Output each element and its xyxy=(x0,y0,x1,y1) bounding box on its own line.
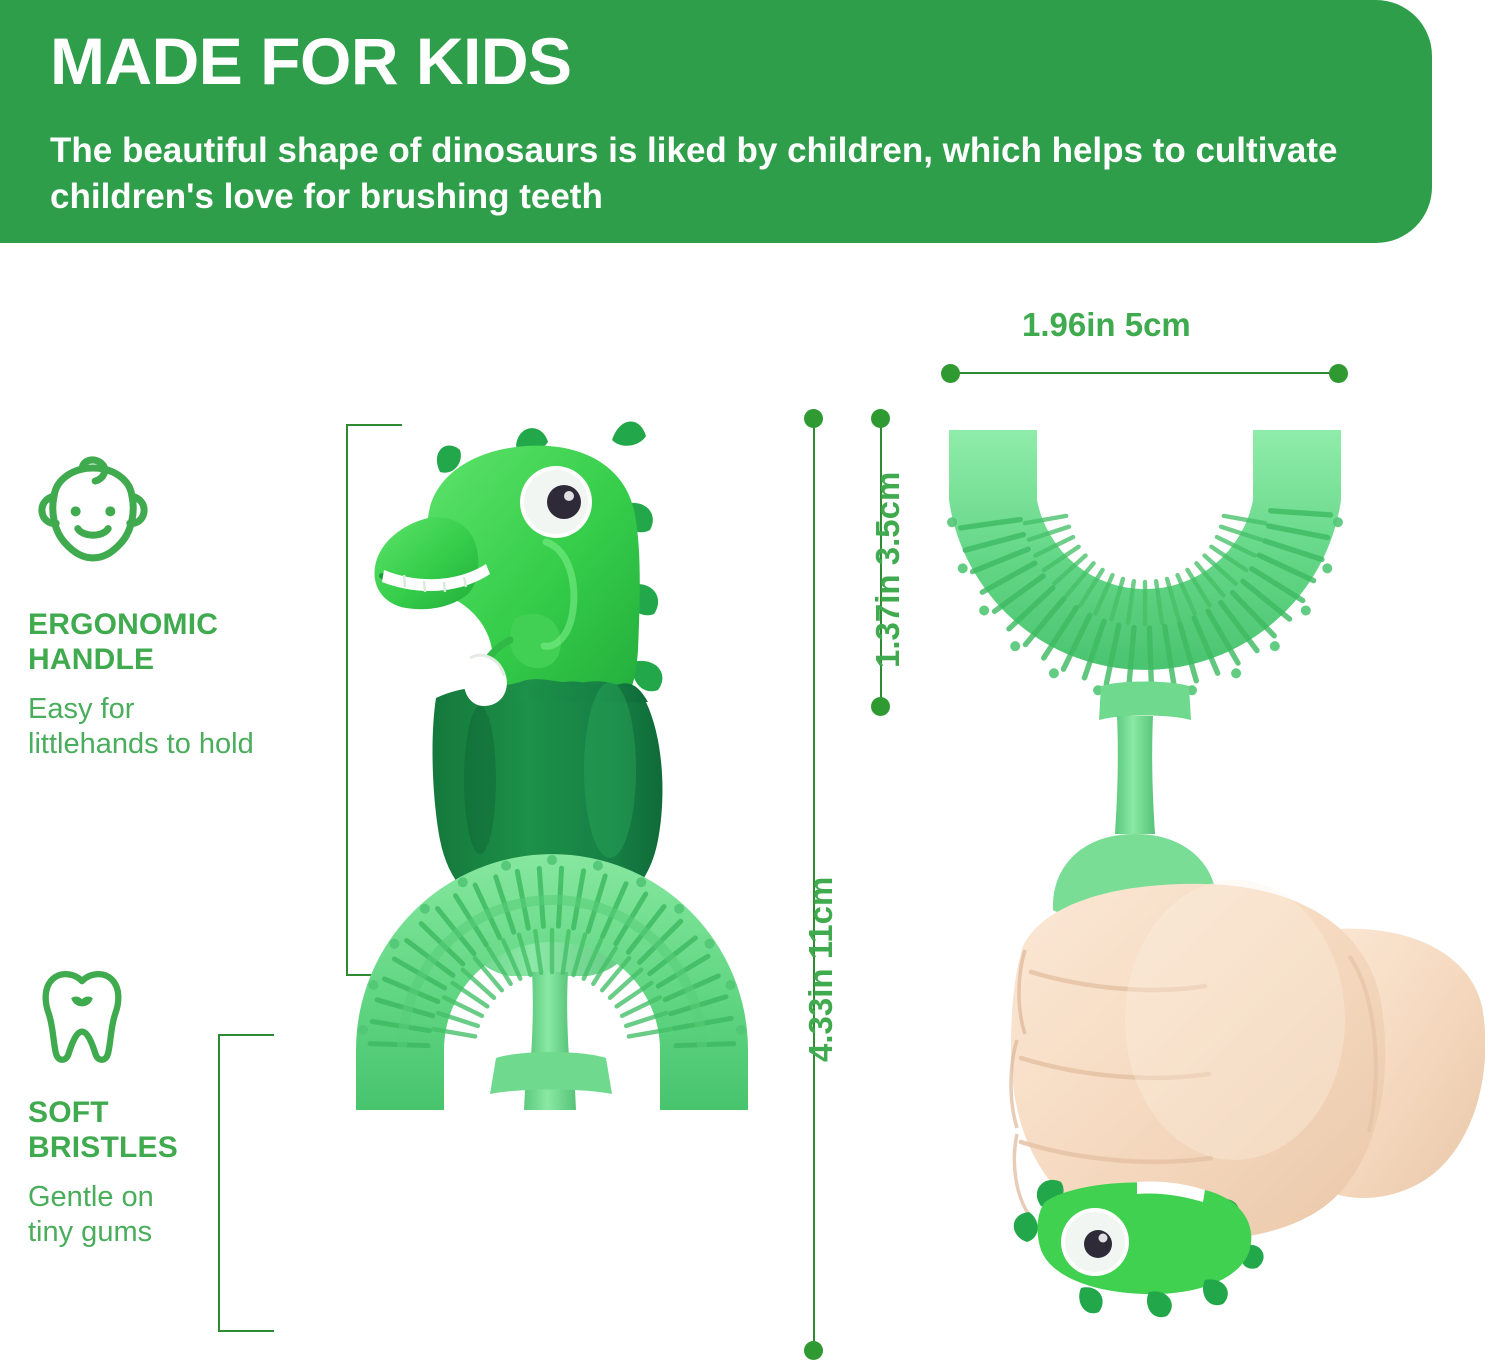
infographic-canvas: MADE FOR KIDS The beautiful shape of din… xyxy=(0,0,1500,1368)
page-subtitle: The beautiful shape of dinosaurs is like… xyxy=(50,128,1340,220)
header-banner: MADE FOR KIDS The beautiful shape of din… xyxy=(0,0,1432,243)
page-title: MADE FOR KIDS xyxy=(50,28,572,94)
dimension-label-total-length: 4.33in 11cm xyxy=(802,877,840,1062)
product-image-side-view xyxy=(320,410,800,1360)
product-image-in-hand xyxy=(905,390,1485,1370)
feature-description: Gentle on tiny gums xyxy=(28,1180,328,1250)
feature-title: SOFT BRISTLES xyxy=(28,1095,328,1166)
dinosaur-head-art xyxy=(374,421,662,702)
bracket-bristles-span xyxy=(218,1034,274,1332)
dimension-dot-bottom xyxy=(804,1341,823,1360)
child-hand-art xyxy=(1011,880,1485,1240)
dimension-dot-bottom xyxy=(871,697,890,716)
dinosaur-head-bottom-art xyxy=(1014,1180,1264,1317)
feature-description: Easy for littlehands to hold xyxy=(28,692,328,762)
feature-title: ERGONOMIC HANDLE xyxy=(28,607,328,678)
dimension-dot-right xyxy=(1329,364,1348,383)
feature-ergonomic-handle: ERGONOMIC HANDLE Easy for littlehands to… xyxy=(28,455,328,761)
dimension-dot-top xyxy=(804,409,823,428)
dimension-label-head-width: 1.96in 5cm xyxy=(1022,306,1191,344)
tooth-icon xyxy=(28,965,136,1073)
dimension-label-head-depth: 1.37in 3.5cm xyxy=(869,472,907,668)
dimension-line-head-width xyxy=(950,372,1338,374)
brush-neck-plate xyxy=(490,1052,612,1094)
brush-neck-plate xyxy=(1099,682,1191,721)
feature-soft-bristles: SOFT BRISTLES Gentle on tiny gums xyxy=(28,965,328,1249)
dimension-dot-left xyxy=(941,364,960,383)
baby-face-icon xyxy=(28,455,158,585)
dimension-dot-top xyxy=(871,409,890,428)
brush-stem-art xyxy=(1115,716,1155,834)
u-brush-head-art-upright xyxy=(947,430,1344,701)
